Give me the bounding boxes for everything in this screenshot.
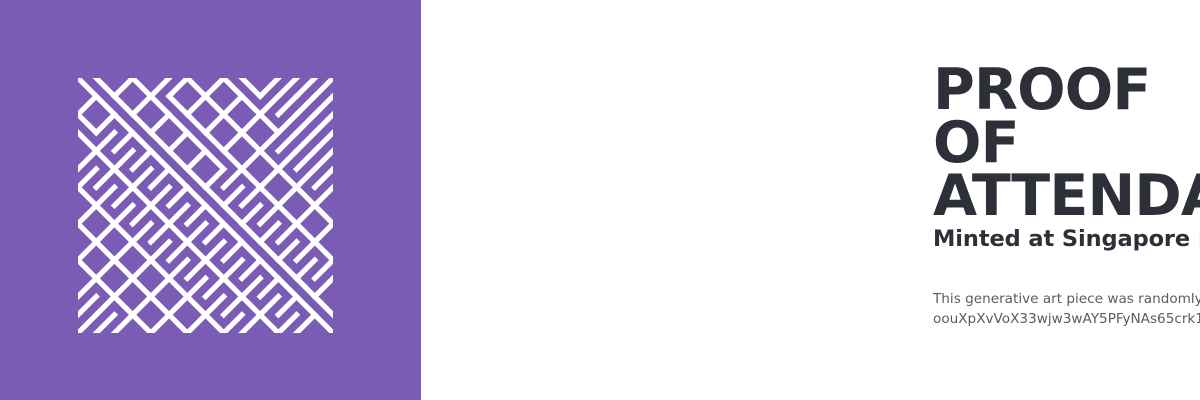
- art-tile-diagonal: [224, 242, 242, 260]
- art-tile-diagonal: [297, 187, 315, 205]
- art-tile-diagonal: [151, 278, 169, 296]
- art-tile-diagonal: [96, 169, 114, 187]
- art-tile-diagonal: [169, 133, 187, 151]
- art-tile-diagonal: [315, 260, 333, 278]
- art-tile-diagonal: [133, 224, 151, 242]
- art-tile-diagonal: [278, 315, 296, 333]
- art-tile-diagonal: [260, 151, 278, 169]
- art-tile-diagonal: [78, 206, 96, 224]
- headline-line-3: ATTENDANCE: [933, 170, 1200, 223]
- art-tile-diagonal: [187, 187, 205, 205]
- art-tile-diagonal: [133, 114, 151, 132]
- art-tile-diagonal: [260, 242, 278, 260]
- art-tile-diagonal: [187, 96, 205, 114]
- art-tile-diagonal: [315, 315, 333, 333]
- art-tile-diagonal: [96, 206, 114, 224]
- art-tile-diagonal: [297, 96, 315, 114]
- art-tile-group: [78, 78, 333, 333]
- art-tile-diagonal: [315, 133, 333, 151]
- art-tile-diagonal: [78, 224, 96, 242]
- art-tile-diagonal: [278, 187, 296, 205]
- art-tile-diagonal: [151, 114, 169, 132]
- art-tile-diagonal: [133, 278, 151, 296]
- art-tile-diagonal: [260, 187, 278, 205]
- art-tile-diagonal: [151, 133, 169, 151]
- art-tile-diagonal: [151, 169, 169, 187]
- art-tile-diagonal: [187, 169, 205, 187]
- art-tile-diagonal: [278, 297, 296, 315]
- art-tile-diagonal: [297, 315, 315, 333]
- art-tile-diagonal: [206, 151, 224, 169]
- art-tile-diagonal: [114, 96, 132, 114]
- art-tile-diagonal: [133, 260, 151, 278]
- art-tile-diagonal: [96, 78, 114, 96]
- art-tile-diagonal: [151, 315, 169, 333]
- art-tile-diagonal: [78, 78, 96, 96]
- art-tile-diagonal: [151, 78, 169, 96]
- art-tile-diagonal: [114, 114, 132, 132]
- art-tile-diagonal: [315, 169, 333, 187]
- description-text: This generative art piece was randomly g…: [933, 289, 1200, 309]
- art-tile-diagonal: [206, 315, 224, 333]
- art-tile-diagonal: [151, 151, 169, 169]
- art-tile-diagonal: [315, 242, 333, 260]
- art-tile-diagonal: [206, 224, 224, 242]
- art-tile-diagonal: [297, 133, 315, 151]
- art-tile-diagonal: [114, 278, 132, 296]
- art-tile-diagonal: [278, 151, 296, 169]
- generative-art-image: [78, 78, 333, 333]
- art-tile-diagonal: [242, 78, 260, 96]
- art-tile-diagonal: [224, 133, 242, 151]
- art-tile-diagonal: [242, 206, 260, 224]
- art-tile-diagonal: [315, 187, 333, 205]
- art-tile-diagonal: [260, 114, 278, 132]
- art-tile-diagonal: [187, 315, 205, 333]
- art-tile-diagonal: [206, 260, 224, 278]
- art-tile-diagonal: [260, 169, 278, 187]
- art-tile-diagonal: [242, 297, 260, 315]
- art-tile-diagonal: [224, 315, 242, 333]
- art-tile-diagonal: [242, 242, 260, 260]
- art-tile-diagonal: [260, 260, 278, 278]
- art-tile-diagonal: [224, 169, 242, 187]
- art-tile-diagonal: [224, 224, 242, 242]
- art-tile-diagonal: [78, 242, 96, 260]
- art-tile-diagonal: [187, 278, 205, 296]
- art-tile-diagonal: [133, 78, 151, 96]
- art-tile-diagonal: [260, 96, 278, 114]
- art-tile-diagonal: [206, 297, 224, 315]
- art-tile-diagonal: [297, 151, 315, 169]
- art-tile-diagonal: [114, 242, 132, 260]
- art-tile-diagonal: [78, 151, 96, 169]
- art-tile-diagonal: [169, 151, 187, 169]
- art-tile-diagonal: [278, 224, 296, 242]
- art-tile-diagonal: [133, 151, 151, 169]
- art-tile-diagonal: [278, 169, 296, 187]
- art-tile-diagonal: [278, 133, 296, 151]
- art-tile-diagonal: [315, 278, 333, 296]
- art-tile-diagonal: [206, 278, 224, 296]
- art-tile-diagonal: [224, 96, 242, 114]
- art-tile-diagonal: [114, 206, 132, 224]
- art-tile-diagonal: [242, 278, 260, 296]
- art-tile-diagonal: [151, 242, 169, 260]
- art-tile-diagonal: [242, 96, 260, 114]
- art-tile-diagonal: [206, 206, 224, 224]
- art-tile-diagonal: [260, 78, 278, 96]
- description-block: This generative art piece was randomly g…: [933, 289, 1200, 330]
- art-tile-diagonal: [151, 297, 169, 315]
- art-tile-diagonal: [260, 133, 278, 151]
- art-tile-diagonal: [133, 187, 151, 205]
- art-tile-diagonal: [114, 133, 132, 151]
- art-tile-diagonal: [78, 169, 96, 187]
- art-tile-diagonal: [260, 297, 278, 315]
- art-tile-diagonal: [206, 133, 224, 151]
- art-tile-diagonal: [78, 133, 96, 151]
- art-tile-diagonal: [96, 315, 114, 333]
- art-tile-diagonal: [278, 206, 296, 224]
- art-tile-diagonal: [315, 224, 333, 242]
- art-tile-diagonal: [96, 151, 114, 169]
- art-tile-diagonal: [78, 114, 96, 132]
- art-tile-diagonal: [297, 169, 315, 187]
- art-tile-diagonal: [96, 242, 114, 260]
- art-tile-diagonal: [114, 297, 132, 315]
- art-tile-diagonal: [169, 278, 187, 296]
- art-tile-diagonal: [297, 206, 315, 224]
- art-tile-diagonal: [242, 169, 260, 187]
- art-tile-diagonal: [206, 78, 224, 96]
- art-tile-diagonal: [114, 224, 132, 242]
- art-tile-diagonal: [224, 114, 242, 132]
- art-tile-diagonal: [206, 114, 224, 132]
- art-tile-diagonal: [224, 278, 242, 296]
- art-tile-diagonal: [315, 114, 333, 132]
- art-tile-diagonal: [96, 96, 114, 114]
- art-tile-diagonal: [187, 78, 205, 96]
- art-tile-diagonal: [260, 206, 278, 224]
- page-title: PROOF OF ATTENDANCE Minted at Singapore …: [933, 64, 1200, 252]
- art-tile-diagonal: [114, 169, 132, 187]
- art-tile-diagonal: [96, 297, 114, 315]
- art-tile-diagonal: [297, 78, 315, 96]
- art-tile-diagonal: [96, 133, 114, 151]
- art-tile-diagonal: [315, 297, 333, 315]
- art-tile-diagonal: [133, 206, 151, 224]
- art-tile-diagonal: [224, 206, 242, 224]
- art-tile-diagonal: [169, 187, 187, 205]
- blockchain-hash-value: oouXpXvVoX33wjw3wAY5PFyNAs65crk1P1DtjYq7…: [933, 309, 1200, 329]
- art-tile-diagonal: [224, 187, 242, 205]
- art-tile-diagonal: [187, 151, 205, 169]
- art-tile-diagonal: [169, 78, 187, 96]
- art-tile-diagonal: [133, 96, 151, 114]
- art-tile-diagonal: [96, 114, 114, 132]
- art-tile-diagonal: [242, 151, 260, 169]
- art-tile-diagonal: [187, 133, 205, 151]
- art-tile-diagonal: [187, 224, 205, 242]
- art-tile-diagonal: [133, 133, 151, 151]
- art-tile-diagonal: [169, 260, 187, 278]
- art-tile-diagonal: [78, 260, 96, 278]
- art-tile-diagonal: [169, 242, 187, 260]
- art-tile-diagonal: [151, 96, 169, 114]
- art-tile-diagonal: [242, 187, 260, 205]
- art-tile-diagonal: [297, 242, 315, 260]
- art-tile-diagonal: [242, 114, 260, 132]
- art-tile-diagonal: [242, 133, 260, 151]
- art-tile-diagonal: [278, 260, 296, 278]
- art-tile-diagonal: [278, 278, 296, 296]
- art-tile-diagonal: [78, 96, 96, 114]
- art-tile-diagonal: [78, 297, 96, 315]
- art-tile-diagonal: [114, 315, 132, 333]
- art-tile-diagonal: [187, 114, 205, 132]
- certificate-content-panel: PROOF OF ATTENDANCE Minted at Singapore …: [421, 0, 1200, 400]
- art-tile-diagonal: [133, 169, 151, 187]
- art-tile-diagonal: [133, 315, 151, 333]
- art-tile-diagonal: [151, 206, 169, 224]
- art-tile-diagonal: [169, 224, 187, 242]
- art-tile-diagonal: [278, 78, 296, 96]
- art-tile-diagonal: [224, 297, 242, 315]
- art-tile-diagonal: [169, 169, 187, 187]
- art-tile-diagonal: [187, 260, 205, 278]
- art-tile-diagonal: [169, 96, 187, 114]
- art-tile-diagonal: [206, 169, 224, 187]
- art-tile-diagonal: [224, 151, 242, 169]
- art-tile-diagonal: [96, 187, 114, 205]
- art-tile-diagonal: [297, 114, 315, 132]
- art-tile-diagonal: [242, 315, 260, 333]
- art-tile-diagonal: [114, 187, 132, 205]
- art-tile-diagonal: [206, 187, 224, 205]
- art-tile-diagonal: [206, 242, 224, 260]
- art-tile-diagonal: [187, 242, 205, 260]
- art-tile-diagonal: [242, 224, 260, 242]
- art-tile-diagonal: [96, 224, 114, 242]
- art-tile-diagonal: [133, 242, 151, 260]
- art-tile-diagonal: [78, 315, 96, 333]
- art-tile-diagonal: [297, 297, 315, 315]
- art-tile-diagonal: [96, 260, 114, 278]
- art-tile-diagonal: [260, 224, 278, 242]
- art-tile-diagonal: [315, 78, 333, 96]
- art-tile-diagonal: [297, 260, 315, 278]
- art-tile-diagonal: [114, 78, 132, 96]
- art-tile-diagonal: [133, 297, 151, 315]
- art-tile-diagonal: [114, 151, 132, 169]
- art-tile-diagonal: [114, 260, 132, 278]
- art-tile-diagonal: [278, 114, 296, 132]
- art-tile-diagonal: [297, 278, 315, 296]
- art-tile-diagonal: [206, 96, 224, 114]
- art-tile-diagonal: [169, 206, 187, 224]
- art-tile-diagonal: [315, 151, 333, 169]
- art-tile-diagonal: [315, 206, 333, 224]
- art-tile-diagonal: [224, 260, 242, 278]
- art-tile-diagonal: [78, 187, 96, 205]
- art-tile-diagonal: [169, 297, 187, 315]
- art-tile-diagonal: [169, 114, 187, 132]
- generative-art-panel: [0, 0, 421, 400]
- art-tile-diagonal: [278, 96, 296, 114]
- art-tile-diagonal: [260, 278, 278, 296]
- art-tile-diagonal: [151, 187, 169, 205]
- art-tile-diagonal: [315, 96, 333, 114]
- art-tile-diagonal: [151, 260, 169, 278]
- art-tile-diagonal: [297, 224, 315, 242]
- proof-of-attendance-certificate: PROOF OF ATTENDANCE Minted at Singapore …: [0, 0, 1200, 400]
- art-tile-diagonal: [242, 260, 260, 278]
- art-tile-diagonal: [187, 297, 205, 315]
- art-tile-diagonal: [187, 206, 205, 224]
- art-tile-diagonal: [278, 242, 296, 260]
- art-tile-diagonal: [78, 278, 96, 296]
- art-tile-diagonal: [260, 315, 278, 333]
- art-tile-diagonal: [169, 315, 187, 333]
- art-tile-diagonal: [224, 78, 242, 96]
- art-tile-diagonal: [96, 278, 114, 296]
- subtitle-minted-at: Minted at Singapore Fintech Festival 202…: [933, 227, 1200, 252]
- art-tile-diagonal: [151, 224, 169, 242]
